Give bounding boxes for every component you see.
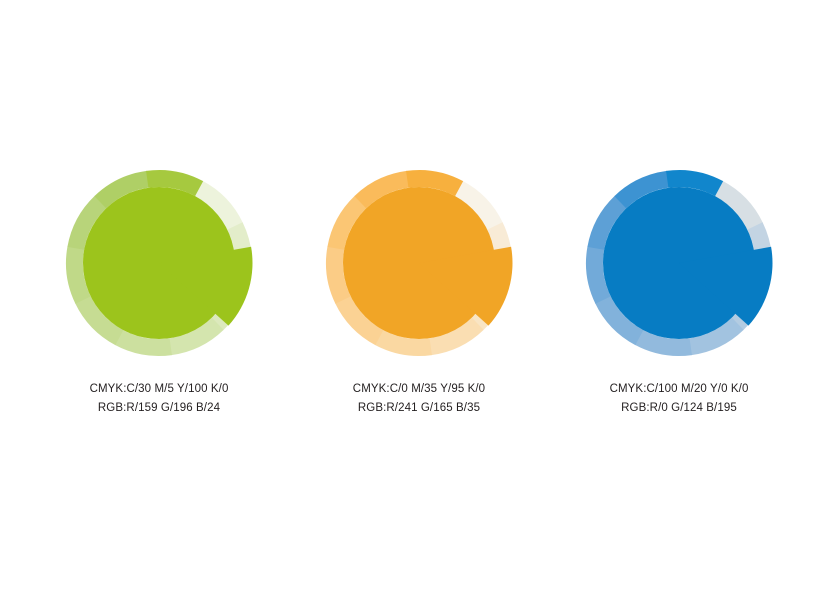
color-wheel-svg (324, 168, 514, 358)
cmyk-label: CMYK:C/0 M/35 Y/95 K/0 (353, 380, 485, 399)
color-wheel-blue (584, 168, 774, 358)
color-caption-blue: CMYK:C/100 M/20 Y/0 K/0 RGB:R/0 G/124 B/… (610, 380, 749, 418)
cmyk-label: CMYK:C/100 M/20 Y/0 K/0 (610, 380, 749, 399)
cmyk-label: CMYK:C/30 M/5 Y/100 K/0 (90, 380, 229, 399)
color-swatch-green: CMYK:C/30 M/5 Y/100 K/0 RGB:R/159 G/196 … (29, 168, 289, 468)
swatch-row: CMYK:C/30 M/5 Y/100 K/0 RGB:R/159 G/196 … (0, 0, 838, 597)
color-wheel-svg (64, 168, 254, 358)
color-wheel-svg (584, 168, 774, 358)
color-swatch-orange: CMYK:C/0 M/35 Y/95 K/0 RGB:R/241 G/165 B… (289, 168, 549, 468)
palette-board: CMYK:C/30 M/5 Y/100 K/0 RGB:R/159 G/196 … (0, 0, 838, 597)
color-caption-green: CMYK:C/30 M/5 Y/100 K/0 RGB:R/159 G/196 … (90, 380, 229, 418)
color-wheel-orange (324, 168, 514, 358)
rgb-label: RGB:R/241 G/165 B/35 (353, 399, 485, 418)
rgb-label: RGB:R/0 G/124 B/195 (610, 399, 749, 418)
color-wheel-green (64, 168, 254, 358)
color-caption-orange: CMYK:C/0 M/35 Y/95 K/0 RGB:R/241 G/165 B… (353, 380, 485, 418)
rgb-label: RGB:R/159 G/196 B/24 (90, 399, 229, 418)
color-swatch-blue: CMYK:C/100 M/20 Y/0 K/0 RGB:R/0 G/124 B/… (549, 168, 809, 468)
